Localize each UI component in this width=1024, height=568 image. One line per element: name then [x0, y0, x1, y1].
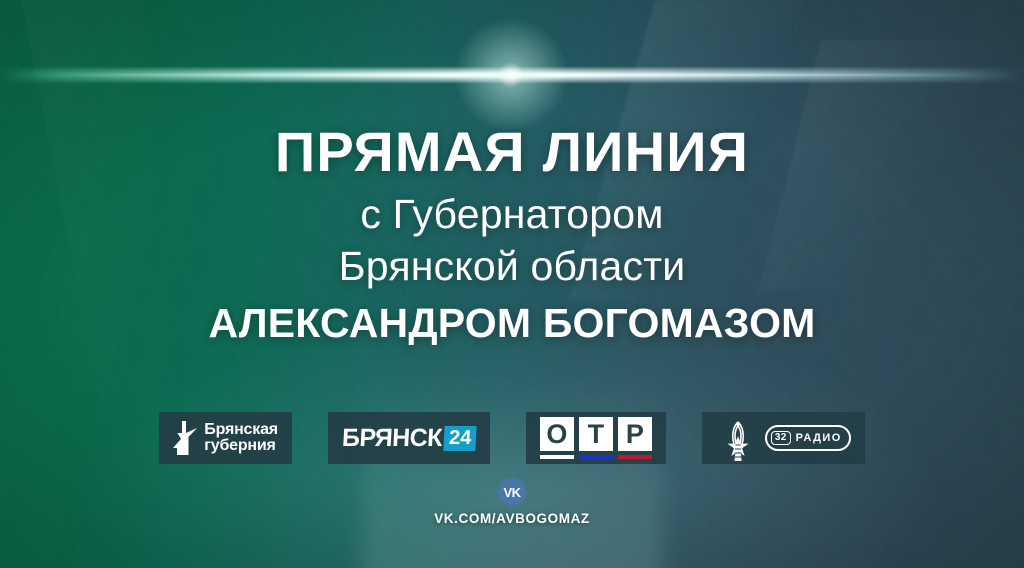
vk-url[interactable]: VK.COM/AVBOGOMAZ — [434, 511, 590, 526]
governor-name: АЛЕКСАНДРОМ БОГОМАЗОМ — [0, 301, 1024, 347]
logo-otr-letter-p: Р — [618, 417, 652, 451]
logo-otr-bar-red — [618, 455, 652, 459]
vk-icon[interactable]: VK — [498, 478, 526, 506]
page-title: ПРЯМАЯ ЛИНИЯ — [0, 124, 1024, 180]
flag-wedge-icon — [173, 421, 197, 455]
vk-block[interactable]: VK VK.COM/AVBOGOMAZ — [0, 478, 1024, 526]
poster-stage: ПРЯМАЯ ЛИНИЯ с Губернатором Брянской обл… — [0, 0, 1024, 568]
logo-bryanskaya-guberniya-line1: Брянская — [204, 422, 278, 438]
logo-otr-letter-t: Т — [579, 417, 613, 451]
logo-otr[interactable]: О Т Р — [526, 412, 666, 464]
logo-bryansk24-badge: 24 — [443, 426, 477, 451]
logo-radio32[interactable]: 32 РАДИО — [702, 412, 865, 464]
title-block: ПРЯМАЯ ЛИНИЯ с Губернатором Брянской обл… — [0, 124, 1024, 347]
logo-otr-letter-o: О — [540, 417, 574, 451]
logo-radio32-word: РАДИО — [796, 432, 842, 444]
logo-otr-bar-blue — [579, 455, 613, 459]
partner-logo-row: Брянская губерния БРЯНСК 24 О Т — [0, 412, 1024, 464]
radio-tower-star-icon — [716, 415, 760, 461]
logo-radio32-badge: 32 — [771, 431, 791, 445]
logo-bryanskaya-guberniya[interactable]: Брянская губерния — [159, 412, 292, 464]
logo-otr-bar-white — [540, 455, 574, 459]
logo-bryansk24-word: БРЯНСК — [341, 424, 442, 453]
subtitle-line-2: Брянской области — [0, 240, 1024, 292]
subtitle-line-1: с Губернатором — [0, 188, 1024, 240]
logo-bryanskaya-guberniya-line2: губерния — [204, 438, 278, 454]
logo-bryansk24[interactable]: БРЯНСК 24 — [328, 412, 490, 464]
